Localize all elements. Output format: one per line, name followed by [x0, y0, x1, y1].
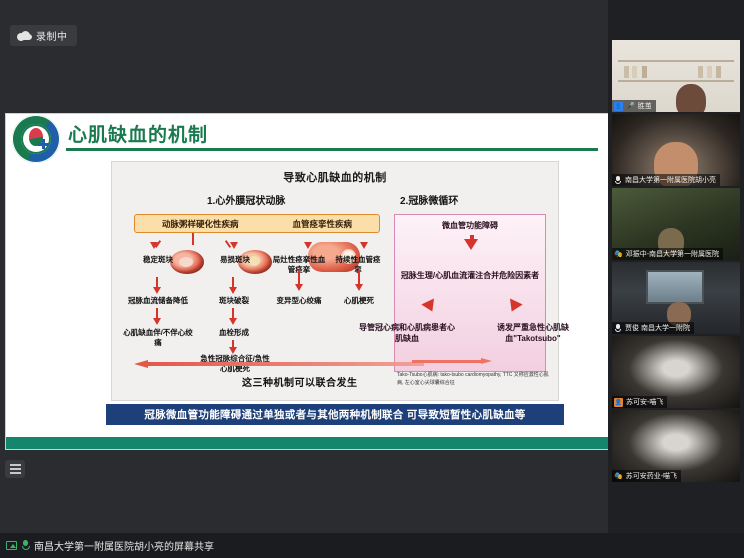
arrow-icon: [505, 299, 522, 315]
participant-name-badge: 🎭 苏可安药业-喵飞: [612, 470, 681, 482]
arrow-icon: [153, 287, 161, 294]
node-micro-right: 诱发严重急性心肌缺血"Takotsubo": [483, 323, 583, 345]
emoji-icon: 🎭: [614, 472, 623, 480]
participant-tile[interactable]: 南昌大学第一附属医院胡小亮: [612, 114, 740, 186]
disease-atherosclerosis: 动脉粥样硬化性疾病: [162, 218, 239, 230]
hospital-logo-icon: [12, 115, 60, 163]
mic-icon: [614, 324, 622, 333]
emoji-icon: 🎤: [626, 102, 635, 110]
arrow-icon: [150, 242, 158, 249]
recording-label: 录制中: [36, 28, 68, 43]
participant-name-badge: 🎭 邓振中-南昌大学第一附属医院: [612, 248, 723, 260]
emoji-icon: 🎭: [614, 250, 623, 258]
arrow-icon: [355, 284, 363, 291]
connector: [192, 233, 194, 245]
title-divider: [66, 148, 598, 151]
recording-indicator: 录制中: [10, 25, 77, 46]
diagram-column-header-1: 1.心外膜冠状动脉: [207, 192, 285, 207]
avatar-blue-icon: 👤: [614, 102, 623, 111]
microcirculation-panel: 微血管功能障碍 冠脉生理/心肌血流灌注合并危险因素者 导管冠心病和心肌病患者心肌…: [394, 214, 546, 372]
avatar-orange-icon: 👤: [614, 398, 623, 407]
node-plaque-rupture: 斑块破裂: [206, 296, 262, 306]
participant-name: 南昌大学第一附属医院胡小亮: [625, 175, 716, 185]
arrow-icon: [229, 347, 237, 354]
meeting-stage: 录制中 心肌缺血的机制 导致心肌缺血的机制 1.心外膜冠状动脉 2.冠脉微循环 …: [0, 0, 608, 533]
arrow-icon: [153, 318, 161, 325]
arrow-icon: [229, 318, 237, 325]
participant-tile[interactable]: 👤 🎤 胜茧: [612, 40, 740, 112]
participant-name-badge: 贾俊 南昌大学一附院: [612, 322, 694, 334]
arrow-icon: [230, 242, 238, 249]
cloud-icon: [17, 31, 31, 40]
screen-share-icon: [6, 541, 17, 550]
participant-name-badge: 👤 🎤 胜茧: [612, 100, 656, 112]
node-micro-dysfunction: 微血管功能障碍: [395, 221, 545, 232]
participant-name: 邓振中-南昌大学第一附属医院: [626, 249, 719, 259]
footnote-arrow: [412, 358, 492, 365]
mic-icon: [21, 540, 30, 551]
diagram-footnote: Tako-Tsubo心肌病: tako-tsubo cardiomyopathy…: [397, 372, 555, 387]
arrow-icon: [360, 242, 368, 249]
participant-name: 胜茧: [638, 101, 652, 111]
node-myocardial-infarction: 心肌梗死: [334, 296, 384, 306]
disease-spasm: 血管痉挛性疾病: [292, 218, 352, 230]
connector: [470, 235, 474, 243]
node-thrombosis: 血栓形成: [206, 328, 262, 338]
diagram-title: 导致心肌缺血的机制: [112, 169, 558, 185]
participant-name: 贾俊 南昌大学一附院: [625, 323, 690, 333]
arrow-icon: [295, 284, 303, 291]
node-flow-reserve: 冠脉血流储备降低: [120, 296, 196, 306]
conclusion-text: 冠脉微血管功能障碍通过单独或者与其他两种机制联合 可导致短暂性心肌缺血等: [144, 407, 525, 422]
node-vulnerable-plaque: 易损斑块: [204, 255, 266, 265]
participant-name-badge: 👤 苏可安-喵飞: [612, 396, 667, 408]
shared-slide[interactable]: 心肌缺血的机制 导致心肌缺血的机制 1.心外膜冠状动脉 2.冠脉微循环 动脉粥样…: [5, 113, 609, 450]
node-stable-plaque: 稳定斑块: [126, 255, 190, 265]
diagram-column-header-2: 2.冠脉微循环: [400, 192, 458, 207]
participant-tile[interactable]: 贾俊 南昌大学一附院: [612, 262, 740, 334]
mechanism-diagram: 导致心肌缺血的机制 1.心外膜冠状动脉 2.冠脉微循环 动脉粥样硬化性疾病 血管…: [111, 161, 559, 401]
participant-strip[interactable]: 👤 🎤 胜茧 南昌大学第一附属医院胡小亮 🎭 邓振中-南昌大学第一附属医院: [608, 0, 744, 533]
mic-icon: [614, 176, 622, 185]
slide-header: 心肌缺血的机制: [6, 114, 608, 152]
participant-tile[interactable]: 🎭 苏可安药业-喵飞: [612, 410, 740, 482]
combined-mechanism-arrow: [134, 360, 424, 368]
participant-tile[interactable]: 👤 苏可安-喵飞: [612, 336, 740, 408]
participant-name: 苏可安-喵飞: [626, 397, 663, 407]
node-micro-left: 导管冠心病和心肌病患者心肌缺血: [357, 323, 457, 345]
participant-tile[interactable]: 🎭 邓振中-南昌大学第一附属医院: [612, 188, 740, 260]
slide-footer-bar: [6, 437, 608, 449]
participant-name: 苏可安药业-喵飞: [626, 471, 677, 481]
node-micro-risk: 冠脉生理/心肌血流灌注合并危险因素者: [395, 271, 545, 282]
combined-mechanism-label: 这三种机制可以联合发生: [242, 374, 358, 389]
participant-name-badge: 南昌大学第一附属医院胡小亮: [612, 174, 720, 186]
slide-title: 心肌缺血的机制: [68, 120, 208, 147]
arrow-icon: [421, 299, 438, 315]
node-ischemia-angina: 心肌缺血伴/不伴心绞痛: [122, 328, 194, 348]
arrow-icon: [229, 287, 237, 294]
status-bar-label: 南昌大学第一附属医院胡小亮的屏幕共享: [34, 538, 214, 553]
status-bar: 南昌大学第一附属医院胡小亮的屏幕共享: [0, 533, 744, 558]
screen-share-controls-button[interactable]: [5, 460, 25, 478]
node-variant-angina: 变异型心绞痛: [268, 296, 330, 306]
disease-category-box: 动脉粥样硬化性疾病 血管痉挛性疾病: [134, 214, 380, 233]
conclusion-banner: 冠脉微血管功能障碍通过单独或者与其他两种机制联合 可导致短暂性心肌缺血等: [106, 404, 564, 425]
